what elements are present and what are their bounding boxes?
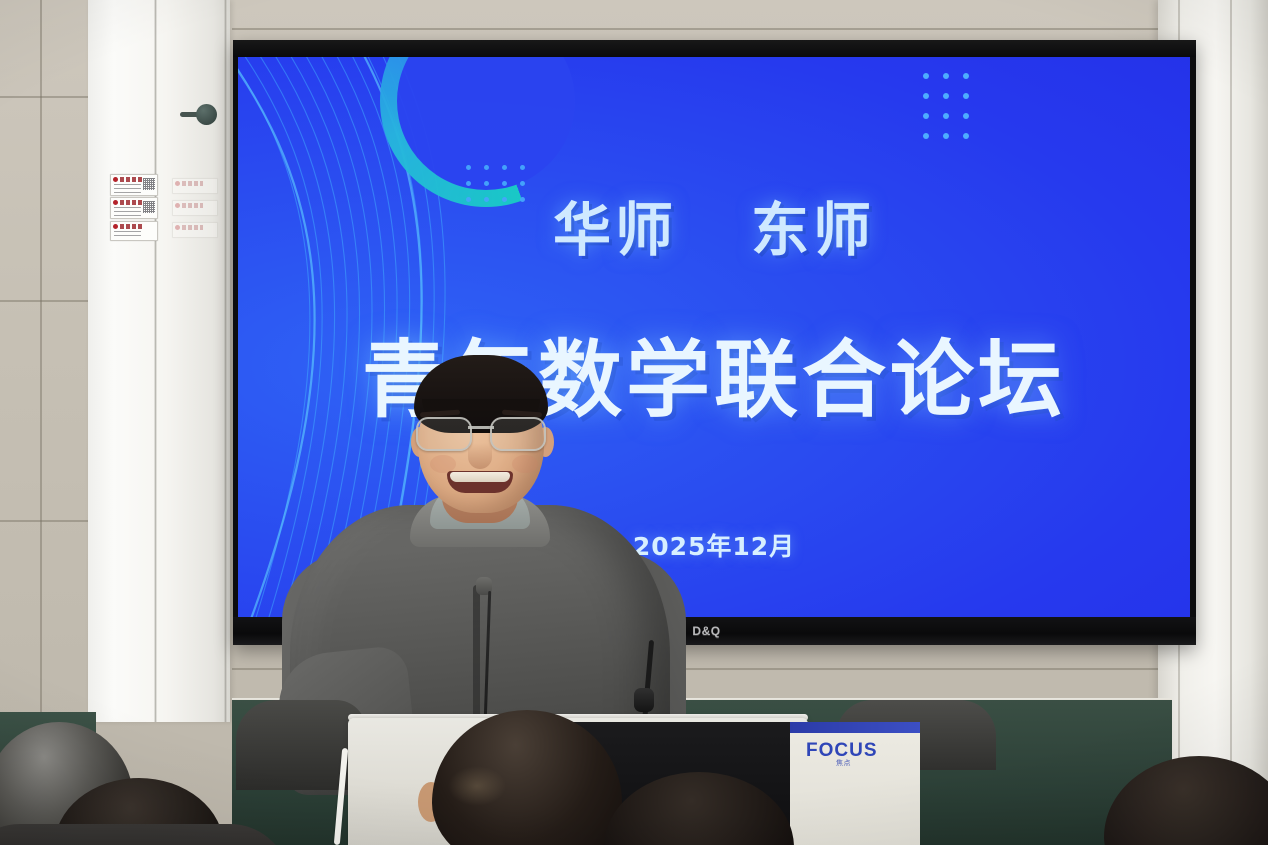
cabinet-seam xyxy=(224,0,227,722)
presenter-cheek-right xyxy=(512,455,538,473)
sticker-title xyxy=(182,203,203,208)
tile-seam xyxy=(0,520,92,522)
asset-tag-sticker xyxy=(110,174,158,196)
university-logo-icon xyxy=(175,181,180,186)
glasses-lens-right xyxy=(490,417,546,451)
podium-microphone-icon xyxy=(634,688,654,712)
asset-tag-sticker xyxy=(110,221,158,241)
lectern-panel-accent xyxy=(790,722,920,733)
sticker-title xyxy=(182,225,203,230)
university-logo-icon xyxy=(113,177,118,182)
display-bezel-top xyxy=(233,40,1196,57)
asset-tag-sticker xyxy=(172,200,218,216)
presenter-mouth xyxy=(447,471,513,493)
sticker-title xyxy=(120,200,143,205)
cabinet-seam xyxy=(154,0,157,722)
university-logo-icon xyxy=(175,203,180,208)
university-logo-icon xyxy=(113,224,118,229)
tile-seam xyxy=(0,300,92,302)
slide-subtitle-right: 东师 xyxy=(751,183,875,267)
dot-grid-decoration-right xyxy=(923,73,965,137)
tile-seam xyxy=(0,96,92,98)
sticker-text xyxy=(114,207,141,216)
slide-subtitle-left: 华师 xyxy=(553,183,677,267)
cabinet-knob-icon[interactable] xyxy=(196,104,217,125)
qr-code-icon xyxy=(143,201,155,213)
audience-shoulder-left xyxy=(236,700,366,790)
university-logo-icon xyxy=(175,225,180,230)
sticker-text xyxy=(114,184,141,193)
pillar-edge xyxy=(1230,0,1232,800)
photo-scene: 华师东师 青年数学联合论坛 2025年12月 D&Q xyxy=(0,0,1268,845)
university-logo-icon xyxy=(113,200,118,205)
presenter-teeth xyxy=(450,472,510,482)
sticker-title xyxy=(182,181,203,186)
asset-tag-sticker xyxy=(110,197,158,219)
lectern-brand-sub: 焦点 xyxy=(836,758,851,768)
audience-shoulder-foreground xyxy=(0,824,290,845)
sticker-title xyxy=(120,177,143,182)
asset-tag-sticker xyxy=(172,222,218,238)
presenter-nose xyxy=(468,443,492,469)
sticker-text xyxy=(114,231,141,238)
glasses-lens-left xyxy=(416,417,472,451)
slide-subtitle: 华师东师 xyxy=(238,183,1190,267)
display-brand-label: D&Q xyxy=(692,624,720,638)
qr-code-icon xyxy=(143,178,155,190)
sticker-title xyxy=(120,224,143,229)
tile-seam xyxy=(232,28,1172,30)
asset-tag-sticker xyxy=(172,178,218,194)
